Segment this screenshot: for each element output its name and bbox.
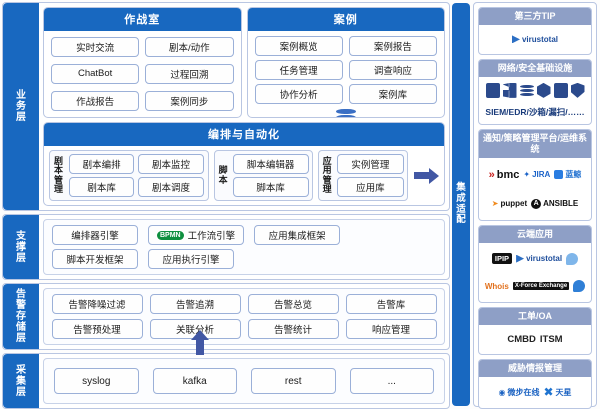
layer-alert-body: 告警降噪过滤 告警追溯 告警总览 告警库 告警预处理 关联分析 告警统计 响应管… [39,284,449,349]
cell-alert-3[interactable]: 告警库 [346,294,437,314]
group-playbook-label: 剧本管理 [53,157,64,195]
panel-orchestration-title: 编排与自动化 [44,123,444,146]
cell-playbook-1[interactable]: 剧本监控 [138,154,203,174]
cell-warroom-4[interactable]: 作战报告 [51,91,139,111]
group-playbook-cells: 剧本编排 剧本监控 剧本库 剧本调度 [68,154,205,197]
panel-infra-body: SIEM/EDR/沙箱/漏扫/…… [479,77,591,124]
jira-logo: ✦JIRA [523,170,550,179]
layer-support: 支撑层 编排器引擎 BPMN工作流引擎 应用集成框架 脚本开发框架 应用执行引擎 [2,214,450,280]
bpmn-icon: BPMN [157,231,184,240]
layer-support-label: 支撑层 [14,231,28,264]
tianyan-label: 天星 [556,387,572,398]
support-cells: 编排器引擎 BPMN工作流引擎 应用集成框架 脚本开发框架 应用执行引擎 [43,219,445,275]
cell-case-4[interactable]: 协作分析 [255,84,343,104]
windows-icon [503,83,517,98]
cell-alert-1[interactable]: 告警追溯 [150,294,241,314]
switch-icon [554,83,568,98]
group-script-label: 脚本 [218,166,229,185]
panel-tip-body: virustotal [479,25,591,54]
panel-infra-title: 网络/安全基础设施 [479,60,591,77]
bluking-logo: 蓝鲸 [554,169,581,180]
jira-label: JIRA [532,170,550,179]
panel-notification-ops: 通知/策略管理平台/运维系统 »bmc ✦JIRA 蓝鲸 ➤puppet AAN… [478,129,592,221]
layer-collect-label: 采集层 [14,365,28,398]
layer-support-body: 编排器引擎 BPMN工作流引擎 应用集成框架 脚本开发框架 应用执行引擎 [39,215,449,279]
puppet-label: puppet [500,199,527,208]
architecture-diagram: 业务层 作战室 实时交流 剧本/动作 ChatBot 过程回溯 作战报告 案例同… [0,0,600,409]
cell-alert-6[interactable]: 告警统计 [248,319,339,339]
arrow-right-icon [413,150,439,201]
whois-logo: Whois [485,282,509,291]
cell-support-2[interactable]: 应用集成框架 [254,225,340,245]
cell-app-1[interactable]: 应用库 [337,177,404,197]
cell-playbook-2[interactable]: 剧本库 [69,177,134,197]
integration-tab-label: 集成适配 [456,183,467,227]
panel-threat-intel: 威胁情报管理 ◉微步在线 ✖天星 [478,359,592,409]
group-playbook-management: 剧本管理 剧本编排 剧本监控 剧本库 剧本调度 [49,150,209,201]
group-script-cells: 脚本编辑器 脚本库 [233,154,309,197]
panel-ticket-oa: 工单/OA CMBD ITSM [478,307,592,355]
cloud-blob-icon [573,280,585,292]
cell-support-3[interactable]: 脚本开发框架 [52,249,138,269]
bluking-label: 蓝鲸 [565,169,581,180]
cell-support-1[interactable]: BPMN工作流引擎 [148,225,244,245]
business-top-row: 作战室 实时交流 剧本/动作 ChatBot 过程回溯 作战报告 案例同步 案例 [43,7,445,118]
panel-cloud-body: IPIP virustotal Whois X-Force Exchange [479,243,591,302]
main-layers-column: 业务层 作战室 实时交流 剧本/动作 ChatBot 过程回溯 作战报告 案例同… [0,0,452,409]
shield-icon [571,83,585,98]
cell-case-5[interactable]: 案例库 [349,84,437,104]
integration-panel-stack: 第三方TIP virustotal 网络/安全基础设施 [473,2,597,407]
panel-infrastructure: 网络/安全基础设施 SIEM/EDR/沙箱/漏扫/…… [478,59,592,125]
cell-support-1-label: 工作流引擎 [188,228,236,242]
ansible-label: ANSIBLE [543,199,578,208]
arrow-up-icon [190,330,210,355]
group-app-cells: 实例管理 应用库 [337,154,404,197]
panel-case-title: 案例 [248,8,445,31]
bmc-label: bmc [497,169,520,181]
panel-warroom: 作战室 实时交流 剧本/动作 ChatBot 过程回溯 作战报告 案例同步 [43,7,242,118]
cell-script-0[interactable]: 脚本编辑器 [233,154,309,174]
panel-notify-body: »bmc ✦JIRA 蓝鲸 ➤puppet AANSIBLE [479,158,591,220]
panel-oa-title: 工单/OA [479,308,591,325]
layer-collect-body: syslog kafka rest ... [39,354,449,408]
virustotal-cloud-logo: virustotal [516,254,562,263]
infra-icon-row [481,83,589,98]
cell-warroom-1[interactable]: 剧本/动作 [145,37,233,57]
panel-case: 案例 案例概览 案例报告 任务管理 调查响应 协作分析 案例库 [247,7,446,118]
panel-ti-title: 威胁情报管理 [479,360,591,377]
cell-warroom-5[interactable]: 案例同步 [145,91,233,111]
cell-warroom-3[interactable]: 过程回溯 [145,64,233,84]
virustotal-cloud-label: virustotal [526,254,562,263]
cell-collect-3[interactable]: ... [350,368,435,394]
database-icon [520,83,534,98]
panel-cloud-title: 云端应用 [479,226,591,243]
group-script: 脚本 脚本编辑器 脚本库 [214,150,313,201]
ansible-logo: AANSIBLE [531,199,578,209]
layer-collect-tab: 采集层 [3,354,39,408]
integration-column: 集成适配 第三方TIP virustotal 网络/安全基础设施 [452,0,600,409]
panel-third-party-tip: 第三方TIP virustotal [478,7,592,55]
cmbd-label: CMBD [507,334,536,345]
database-cylinder-icon [335,108,357,118]
cell-script-1[interactable]: 脚本库 [233,177,309,197]
ipip-logo: IPIP [492,253,512,264]
cell-collect-0[interactable]: syslog [54,368,139,394]
cell-warroom-0[interactable]: 实时交流 [51,37,139,57]
tianyan-logo: ✖天星 [543,385,571,399]
panel-cloud-apps: 云端应用 IPIP virustotal Whois X-Force Excha… [478,225,592,303]
virustotal-logo: virustotal [512,35,558,44]
server-icon [486,83,500,98]
xforce-exchange-logo: X-Force Exchange [513,282,569,290]
cell-case-1[interactable]: 案例报告 [349,36,437,56]
bmc-logo: »bmc [489,169,520,181]
cell-app-0[interactable]: 实例管理 [337,154,404,174]
layer-support-tab: 支撑层 [3,215,39,279]
virustotal-label: virustotal [522,35,558,44]
group-application-management: 应用管理 实例管理 应用库 [318,150,408,201]
panel-oa-body: CMBD ITSM [479,325,591,354]
cell-warroom-2[interactable]: ChatBot [51,64,139,84]
cell-support-0[interactable]: 编排器引擎 [52,225,138,245]
chat-blob-icon [566,253,578,265]
cell-alert-0[interactable]: 告警降噪过滤 [52,294,143,314]
weibu-logo: ◉微步在线 [498,387,539,398]
cell-alert-4[interactable]: 告警预处理 [52,319,143,339]
cell-alert-2[interactable]: 告警总览 [248,294,339,314]
panel-tip-title: 第三方TIP [479,8,591,25]
group-app-label: 应用管理 [322,157,333,195]
cell-collect-1[interactable]: kafka [153,368,238,394]
cell-playbook-3[interactable]: 剧本调度 [138,177,203,197]
weibu-label: 微步在线 [507,387,539,398]
panel-warroom-title: 作战室 [44,8,241,31]
integration-tab: 集成适配 [452,3,470,406]
cell-case-0[interactable]: 案例概览 [255,36,343,56]
panel-case-body: 案例概览 案例报告 任务管理 调查响应 协作分析 案例库 [248,31,445,118]
layer-alert-storage: 告警存储层 告警降噪过滤 告警追溯 告警总览 告警库 告警预处理 关联分析 告警… [2,283,450,350]
layer-business: 业务层 作战室 实时交流 剧本/动作 ChatBot 过程回溯 作战报告 案例同… [2,2,450,211]
cell-case-3[interactable]: 调查响应 [349,60,437,80]
cell-playbook-0[interactable]: 剧本编排 [69,154,134,174]
panel-orchestration: 编排与自动化 剧本管理 剧本编排 剧本监控 剧本库 剧本调度 [43,122,445,206]
cell-alert-7[interactable]: 响应管理 [346,319,437,339]
panel-ti-body: ◉微步在线 ✖天星 [479,377,591,408]
panel-notify-title: 通知/策略管理平台/运维系统 [479,130,591,158]
cell-support-4[interactable]: 应用执行引擎 [148,249,234,269]
itsm-label: ITSM [540,334,563,345]
layer-business-tab: 业务层 [3,3,39,210]
panel-warroom-body: 实时交流 剧本/动作 ChatBot 过程回溯 作战报告 案例同步 [44,31,241,117]
infra-caption: SIEM/EDR/沙箱/漏扫/…… [481,106,589,118]
collect-cells: syslog kafka rest ... [43,358,445,404]
puppet-logo: ➤puppet [492,199,527,208]
cell-case-2[interactable]: 任务管理 [255,60,343,80]
layer-business-label: 业务层 [14,90,28,123]
cell-collect-2[interactable]: rest [251,368,336,394]
layer-business-body: 作战室 实时交流 剧本/动作 ChatBot 过程回溯 作战报告 案例同步 案例 [39,3,449,210]
layer-alert-tab: 告警存储层 [3,284,39,349]
layer-collection: 采集层 syslog kafka rest ... [2,353,450,409]
alert-cells: 告警降噪过滤 告警追溯 告警总览 告警库 告警预处理 关联分析 告警统计 响应管… [43,288,445,345]
panel-orchestration-body: 剧本管理 剧本编排 剧本监控 剧本库 剧本调度 脚本 脚本编辑器 [44,146,444,205]
cube-icon [537,83,551,98]
layer-alert-label: 告警存储层 [14,289,28,344]
